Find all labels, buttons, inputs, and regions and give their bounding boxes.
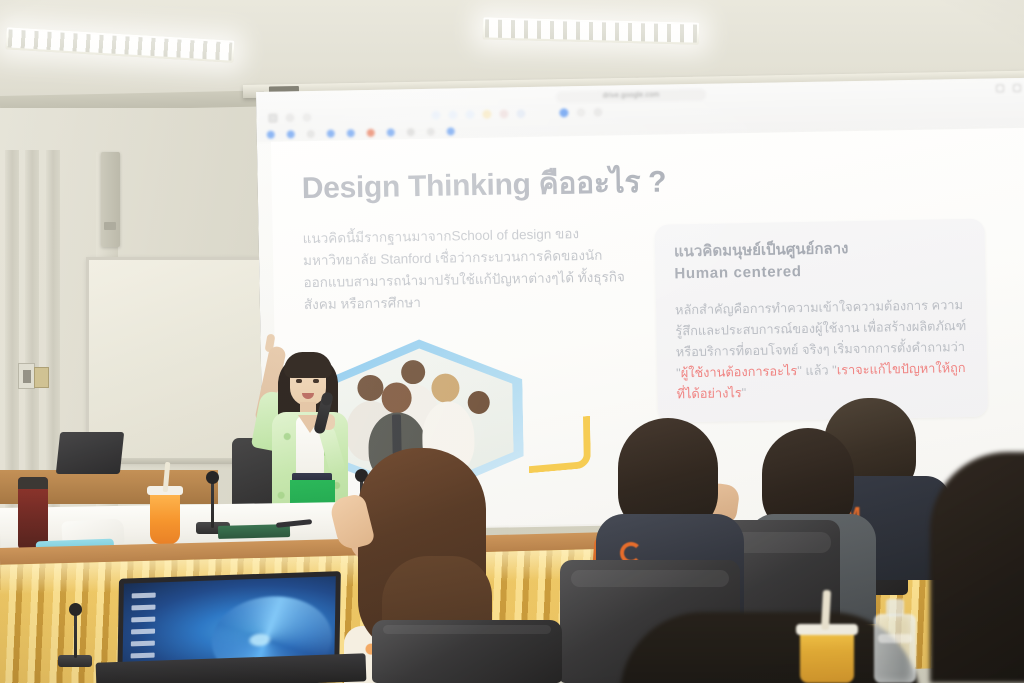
card-body-part3: " bbox=[742, 386, 747, 401]
browser-tab-favicon[interactable] bbox=[576, 108, 585, 117]
bookmark-item[interactable] bbox=[447, 127, 457, 135]
bookmark-item[interactable] bbox=[307, 129, 317, 137]
minimize-icon[interactable] bbox=[996, 84, 1004, 92]
browser-tab-favicon[interactable] bbox=[499, 109, 508, 118]
bookmark-item[interactable] bbox=[367, 128, 377, 136]
yellow-drink-cup[interactable] bbox=[800, 630, 854, 683]
presenter-eye bbox=[313, 379, 319, 383]
browser-tab-favicon[interactable] bbox=[448, 110, 457, 119]
presenter-fringe bbox=[284, 352, 332, 378]
conference-room-scene: drive.google.com bbox=[0, 0, 1024, 683]
nav-forward-icon[interactable] bbox=[302, 113, 311, 122]
laptop-on-side-desk[interactable] bbox=[56, 432, 124, 474]
browser-tab-favicon[interactable] bbox=[431, 111, 440, 120]
power-outlet-box[interactable] bbox=[34, 367, 49, 388]
card-highlight-1: ผู้ใช้งานต้องการอะไร bbox=[681, 363, 798, 380]
browser-tab-favicon[interactable] bbox=[593, 108, 602, 117]
human-centered-card: แนวคิดมนุษย์เป็นศูนย์กลาง Human centered… bbox=[654, 219, 988, 423]
desktop-icon[interactable] bbox=[131, 605, 155, 611]
card-body: หลักสำคัญคือการทำความเข้าใจความต้องการ ค… bbox=[675, 294, 969, 406]
card-title: แนวคิดมนุษย์เป็นศูนย์กลาง Human centered bbox=[674, 236, 967, 285]
desktop-icon[interactable] bbox=[131, 617, 155, 623]
desktop-icon[interactable] bbox=[131, 629, 155, 635]
browser-tab-favicon[interactable] bbox=[559, 108, 568, 117]
photo-person-head bbox=[431, 374, 460, 404]
bookmark-item[interactable] bbox=[347, 129, 357, 137]
foreground-silhouette bbox=[930, 452, 1024, 683]
maximize-icon[interactable] bbox=[1013, 84, 1021, 92]
browser-tab-favicon[interactable] bbox=[465, 110, 474, 119]
light-switch-box[interactable] bbox=[18, 363, 35, 389]
bottle-neck bbox=[886, 599, 904, 616]
photo-person-head bbox=[468, 391, 490, 414]
presenter-eye bbox=[296, 379, 302, 383]
desktop-icon[interactable] bbox=[131, 641, 155, 647]
tab-list-icon[interactable] bbox=[268, 114, 277, 123]
wall-speaker bbox=[101, 152, 120, 247]
laptop-desktop-icons[interactable] bbox=[131, 593, 156, 659]
bookmark-item[interactable] bbox=[267, 130, 277, 138]
yellow-chevron-shape bbox=[528, 416, 591, 473]
browser-tab-favicon[interactable] bbox=[482, 110, 491, 119]
gooseneck-microphone bbox=[211, 480, 214, 528]
red-tumbler[interactable] bbox=[18, 477, 48, 549]
card-body-part2: " แล้ว " bbox=[797, 363, 837, 379]
bookmark-item[interactable] bbox=[287, 130, 297, 138]
tumbler-lid bbox=[18, 477, 48, 489]
nav-back-icon[interactable] bbox=[285, 113, 294, 122]
slide-left-paragraph: แนวคิดนี้มีรากฐานมาจากSchool of design ข… bbox=[303, 222, 635, 315]
bookmark-item[interactable] bbox=[327, 129, 337, 137]
window-controls[interactable] bbox=[996, 84, 1024, 93]
slide-title: Design Thinking คืออะไร ? bbox=[301, 152, 1004, 212]
bookmark-item[interactable] bbox=[407, 128, 417, 136]
card-title-english: Human centered bbox=[674, 258, 966, 285]
desktop-icon[interactable] bbox=[131, 653, 155, 659]
desktop-icon[interactable] bbox=[132, 593, 156, 599]
bookmark-item[interactable] bbox=[387, 128, 397, 136]
photo-person-head bbox=[401, 360, 425, 384]
browser-tab-favicon[interactable] bbox=[516, 109, 525, 118]
gooseneck-microphone bbox=[74, 612, 77, 658]
bottle-ring bbox=[878, 634, 912, 643]
orange-drink-cup[interactable] bbox=[150, 492, 180, 544]
audience-chair[interactable] bbox=[372, 620, 562, 683]
water-bottle[interactable] bbox=[874, 614, 916, 683]
bookmark-item[interactable] bbox=[427, 127, 437, 135]
